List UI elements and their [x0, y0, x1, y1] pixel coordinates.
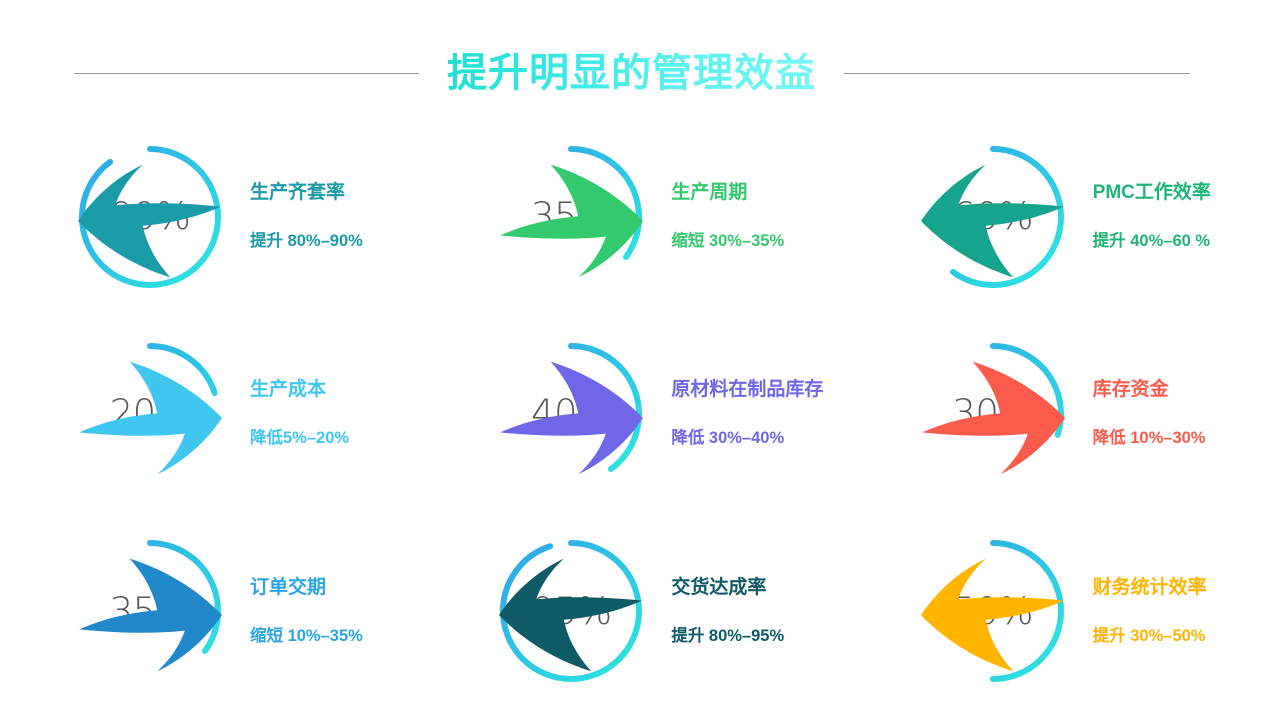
kpi-sublabel: 降低5%–20% [250, 429, 349, 447]
kpi-text-block: 生产成本降低5%–20% [250, 380, 349, 447]
kpi-sublabel: 降低 10%–30% [1093, 429, 1206, 447]
title-rule-left [74, 73, 419, 74]
page-header: 提升明显的管理效益 [0, 42, 1264, 104]
arrow-down-icon [915, 340, 1071, 496]
kpi-item: 95%交货达成率提升 80%–95% [421, 513, 842, 710]
kpi-text-block: PMC工作效率提升 40%–60 % [1093, 183, 1211, 250]
kpi-label: 生产周期 [671, 183, 747, 204]
kpi-sublabel: 提升 80%–95% [671, 627, 784, 645]
arrow-down-icon [72, 537, 228, 693]
progress-ring: 30% [915, 336, 1071, 492]
gauge-center: 40% [493, 336, 649, 492]
kpi-label: 原材料在制品库存 [671, 380, 823, 401]
progress-ring: 90% [72, 139, 228, 295]
kpi-text-block: 交货达成率提升 80%–95% [671, 578, 784, 645]
arrow-up-icon [72, 143, 228, 299]
kpi-text-block: 生产周期缩短 30%–35% [671, 183, 784, 250]
progress-ring: 35% [72, 533, 228, 689]
progress-ring: 40% [493, 336, 649, 492]
progress-ring: 95% [493, 533, 649, 689]
kpi-item: 60%PMC工作效率提升 40%–60 % [843, 118, 1264, 315]
kpi-text-block: 库存资金降低 10%–30% [1093, 380, 1206, 447]
progress-ring: 20% [72, 336, 228, 492]
kpi-sublabel: 降低 30%–40% [671, 429, 784, 447]
progress-ring: 60% [915, 139, 1071, 295]
gauge-center: 60% [915, 139, 1071, 295]
kpi-sublabel: 提升 40%–60 % [1093, 232, 1210, 250]
kpi-item: 20%生产成本降低5%–20% [0, 315, 421, 512]
arrow-up-icon [915, 143, 1071, 299]
kpi-label: 订单交期 [250, 578, 326, 599]
kpi-sublabel: 提升 80%–90% [250, 232, 363, 250]
kpi-text-block: 原材料在制品库存降低 30%–40% [671, 380, 823, 447]
kpi-label: 生产齐套率 [250, 183, 345, 204]
arrow-down-icon [493, 340, 649, 496]
gauge-center: 35% [493, 139, 649, 295]
kpi-label: 交货达成率 [671, 578, 766, 599]
arrow-up-icon [493, 537, 649, 693]
kpi-grid: 90%生产齐套率提升 80%–90%35%生产周期缩短 30%–35%60%PM… [0, 118, 1264, 710]
kpi-sublabel: 提升 30%–50% [1093, 627, 1206, 645]
arrow-down-icon [493, 143, 649, 299]
kpi-sublabel: 缩短 30%–35% [671, 232, 784, 250]
kpi-sublabel: 缩短 10%–35% [250, 627, 363, 645]
gauge-center: 20% [72, 336, 228, 492]
kpi-item: 35%生产周期缩短 30%–35% [421, 118, 842, 315]
kpi-label: 库存资金 [1093, 380, 1169, 401]
kpi-label: 生产成本 [250, 380, 326, 401]
title-rule-right [844, 73, 1190, 74]
gauge-center: 90% [72, 139, 228, 295]
kpi-label: 财务统计效率 [1093, 578, 1207, 599]
gauge-center: 30% [915, 336, 1071, 492]
page-title: 提升明显的管理效益 [447, 53, 816, 93]
kpi-label: PMC工作效率 [1093, 183, 1211, 204]
kpi-item: 50%财务统计效率提升 30%–50% [843, 513, 1264, 710]
kpi-item: 35%订单交期缩短 10%–35% [0, 513, 421, 710]
kpi-text-block: 生产齐套率提升 80%–90% [250, 183, 363, 250]
progress-ring: 50% [915, 533, 1071, 689]
kpi-item: 90%生产齐套率提升 80%–90% [0, 118, 421, 315]
kpi-item: 40%原材料在制品库存降低 30%–40% [421, 315, 842, 512]
kpi-text-block: 订单交期缩短 10%–35% [250, 578, 363, 645]
arrow-up-icon [915, 537, 1071, 693]
arrow-down-icon [72, 340, 228, 496]
gauge-center: 95% [493, 533, 649, 689]
gauge-center: 35% [72, 533, 228, 689]
kpi-item: 30%库存资金降低 10%–30% [843, 315, 1264, 512]
kpi-text-block: 财务统计效率提升 30%–50% [1093, 578, 1207, 645]
progress-ring: 35% [493, 139, 649, 295]
gauge-center: 50% [915, 533, 1071, 689]
